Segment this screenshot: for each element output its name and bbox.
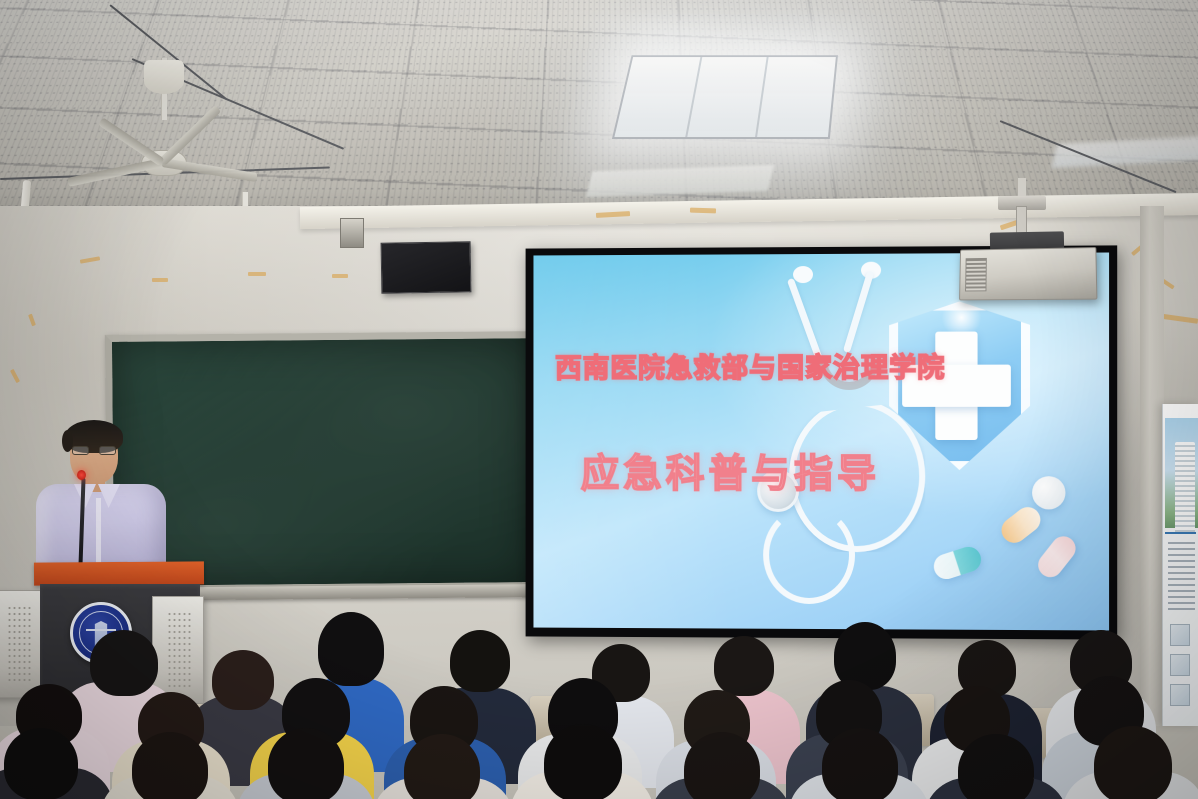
projector-vent xyxy=(965,258,987,292)
presenter-shirt xyxy=(36,484,166,574)
fan-blade xyxy=(159,105,221,166)
slide-title-line: 应急科普与指导 xyxy=(581,443,880,499)
pill-capsule-pink-icon xyxy=(1033,531,1080,582)
presenter xyxy=(36,420,166,570)
poster-text-block xyxy=(1168,542,1195,614)
podium-top-surface xyxy=(34,561,204,585)
poster-building-image xyxy=(1175,442,1195,534)
stethoscope-earpiece-icon xyxy=(793,266,813,283)
blackboard xyxy=(105,331,537,593)
microphone-led-indicator xyxy=(77,470,86,480)
pill-round-icon xyxy=(1032,476,1065,509)
poster-divider xyxy=(1165,532,1196,534)
presenter-glasses xyxy=(72,446,116,455)
wall-speaker xyxy=(381,241,472,294)
tape-mark xyxy=(332,274,348,278)
ceiling-fan-left xyxy=(94,58,234,168)
slide-subtitle-line: 西南医院急救部与国家治理学院 xyxy=(555,346,945,386)
stethoscope-cord xyxy=(763,506,855,604)
fan-blade xyxy=(98,117,164,166)
projection-screen-frame: 西南医院急救部与国家治理学院 应急科普与指导 xyxy=(526,245,1118,639)
projection-screen[interactable]: 西南医院急救部与国家治理学院 应急科普与指导 xyxy=(533,252,1109,630)
pill-capsule-orange-icon xyxy=(996,502,1045,548)
ceiling-projector xyxy=(959,247,1097,300)
chalk-residue xyxy=(112,338,530,586)
pill-capsule-teal-icon xyxy=(931,544,985,583)
tape-mark xyxy=(690,208,716,214)
seated-audience xyxy=(0,608,1198,799)
wall-electrical-box xyxy=(340,218,364,248)
poster-photo xyxy=(1165,418,1198,528)
tape-mark xyxy=(152,278,168,282)
stethoscope-arm xyxy=(843,271,874,354)
tape-mark xyxy=(248,272,266,276)
lecture-hall-photo: 西南医院急救部与国家治理学院 应急科普与指导 xyxy=(0,0,1198,799)
